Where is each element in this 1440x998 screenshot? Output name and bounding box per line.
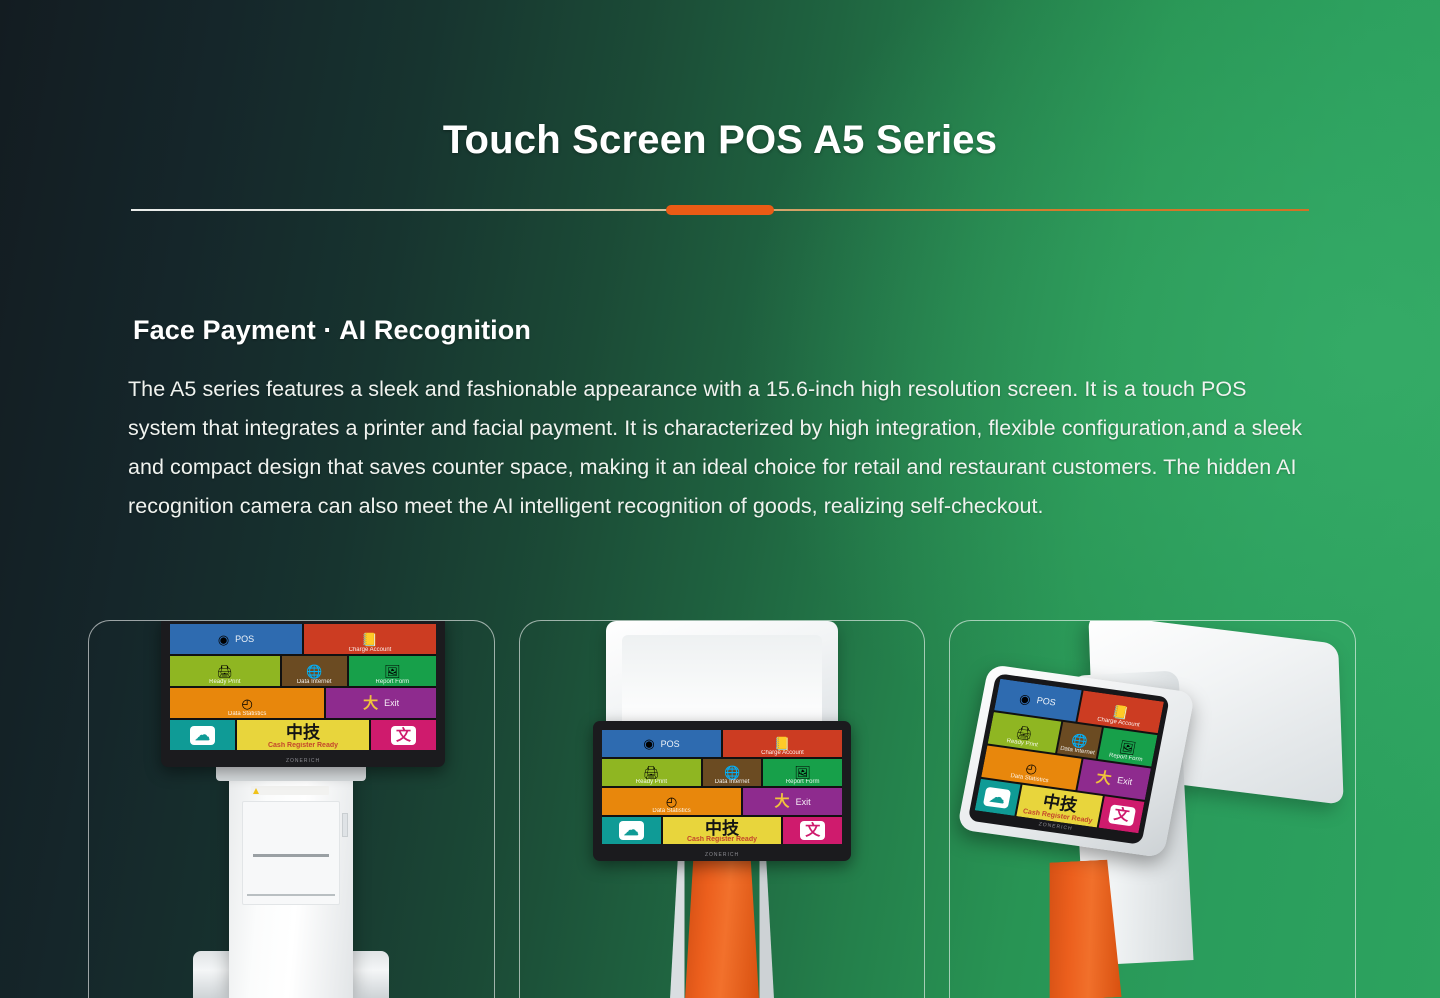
pos-icon: ◉	[218, 633, 229, 646]
printer-icon: 🖨	[1015, 725, 1034, 740]
pos-tile-printer-icon[interactable]: 🖨Ready Print	[170, 656, 280, 686]
pos-tile-exit-icon[interactable]: 大Exit	[743, 788, 842, 815]
title-divider	[131, 209, 1309, 211]
pos-tile-cloud-icon[interactable]: ☁	[602, 817, 661, 844]
pos-tile-brand-tile[interactable]: 中技Cash Register Ready	[663, 817, 782, 844]
section-body-text: The A5 series features a sleek and fashi…	[128, 370, 1313, 526]
pos-tile-wenzi-icon[interactable]: 文	[371, 720, 436, 750]
device3-front-housing: ◉POS📒Charge Account🖨Ready Print🌐Data Int…	[957, 664, 1195, 858]
product-card-dual-screen: ◉POS📒Charge Account🖨Ready Print🌐Data Int…	[519, 620, 926, 998]
pos-tile-grid: ◉POS📒Charge Account🖨Ready Print🌐Data Int…	[602, 730, 842, 844]
ledger-icon: 📒	[1112, 704, 1131, 719]
piechart-icon: ◴	[666, 795, 677, 808]
pos-tile-label: Report Form	[763, 779, 842, 785]
report-icon: 🖼	[794, 766, 811, 779]
printer-icon: 🖨	[643, 766, 660, 779]
device2-screen-shell: ◉POS📒Charge Account🖨Ready Print🌐Data Int…	[593, 721, 851, 861]
pos-tile-report-icon[interactable]: 🖼Report Form	[349, 656, 436, 686]
pos-tile-wenzi-icon[interactable]: 文	[1099, 796, 1145, 833]
pos-tile-exit-icon[interactable]: 大Exit	[326, 688, 436, 718]
pos-tile-report-icon[interactable]: 🖼Report Form	[763, 759, 842, 786]
pos-tile-wenzi-icon[interactable]: 文	[783, 817, 842, 844]
pos-tile-cloud-icon[interactable]: ☁	[170, 720, 235, 750]
warning-label-icon	[251, 786, 329, 795]
device1-printer-base	[229, 769, 353, 998]
brand-tile: 中技	[286, 724, 320, 741]
pos-icon: ◉	[643, 737, 654, 750]
pos-tile-network-icon[interactable]: 🌐Data Internet	[282, 656, 347, 686]
piechart-icon: ◴	[1025, 761, 1039, 775]
divider-pill	[666, 205, 774, 215]
pos-tile-label: Data Internet	[282, 679, 347, 685]
device2-bezel-brand: ZONERICH	[593, 852, 851, 858]
pos-tile-cloud-icon[interactable]: ☁	[975, 779, 1021, 816]
tear-bar	[247, 894, 335, 896]
pos-tile-label: Charge Account	[304, 647, 436, 653]
paper-slot	[253, 854, 329, 857]
exit-icon: 大	[775, 794, 790, 809]
device2-orange-stand	[685, 849, 759, 998]
wenzi-icon: 文	[1108, 804, 1136, 826]
section-subtitle: Face Payment · AI Recognition	[133, 315, 531, 346]
pos-tile-piechart-icon[interactable]: ◴Data Statistics	[602, 788, 741, 815]
device1-printer-door	[242, 801, 340, 905]
pos-tile-pos-icon[interactable]: ◉POS	[170, 624, 302, 654]
poster-page: Touch Screen POS A5 Series Face Payment …	[0, 0, 1440, 998]
product-image-cards: ◉POS📒Charge Account🖨Ready Print🌐Data Int…	[88, 620, 1356, 998]
wenzi-icon: 文	[391, 726, 416, 745]
pos-tile-label: Report Form	[349, 679, 436, 685]
product-card-angled-dual-screen: ◉POS📒Charge Account🖨Ready Print🌐Data Int…	[949, 620, 1356, 998]
device1-bezel-brand: ZONERICH	[161, 758, 445, 764]
device1-side-button	[342, 813, 348, 837]
piechart-icon: ◴	[241, 697, 252, 710]
product-card-single-screen: ◉POS📒Charge Account🖨Ready Print🌐Data Int…	[88, 620, 495, 998]
ledger-icon: 📒	[362, 633, 378, 646]
printer-icon: 🖨	[217, 665, 234, 678]
pos-tile-report-icon[interactable]: 🖼Report Form	[1098, 728, 1157, 767]
pos-tile-label: Charge Account	[723, 750, 842, 756]
pos-tile-ledger-icon[interactable]: 📒Charge Account	[304, 624, 436, 654]
cloud-icon: ☁	[619, 821, 644, 840]
pos-tile-label: Exit	[796, 797, 811, 807]
pos-tile-label: Exit	[1117, 775, 1134, 787]
pos-tile-network-icon[interactable]: 🌐Data Internet	[703, 759, 762, 786]
pos-tile-label: Data Statistics	[170, 711, 324, 717]
pos-tile-printer-icon[interactable]: 🖨Ready Print	[602, 759, 701, 786]
pos-tile-label: Ready Print	[602, 779, 701, 785]
cloud-icon: ☁	[190, 726, 215, 745]
pos-tile-grid: ◉POS📒Charge Account🖨Ready Print🌐Data Int…	[975, 679, 1164, 834]
pos-tile-ledger-icon[interactable]: 📒Charge Account	[723, 730, 842, 757]
brand-tile: 中技	[705, 820, 739, 837]
exit-icon: 大	[363, 696, 378, 711]
report-icon: 🖼	[384, 665, 401, 678]
device2-rear-display-panel	[622, 635, 822, 729]
pos-icon: ◉	[1019, 691, 1033, 705]
wenzi-icon: 文	[800, 821, 825, 840]
cloud-icon: ☁	[984, 786, 1012, 808]
pos-tile-label: POS	[661, 739, 680, 749]
pos-tile-label: Exit	[384, 698, 399, 708]
exit-icon: 大	[1095, 770, 1113, 787]
pos-tile-brand-tile[interactable]: 中技Cash Register Ready	[237, 720, 369, 750]
pos-tile-label: Cash Register Ready	[237, 742, 369, 749]
pos-tile-label: Data Statistics	[602, 808, 741, 814]
pos-tile-piechart-icon[interactable]: ◴Data Statistics	[170, 688, 324, 718]
pos-tile-pos-icon[interactable]: ◉POS	[602, 730, 721, 757]
device1-screen-shell: ◉POS📒Charge Account🖨Ready Print🌐Data Int…	[161, 620, 445, 767]
network-icon: 🌐	[306, 665, 322, 678]
report-icon: 🖼	[1119, 740, 1138, 755]
pos-tile-label: Cash Register Ready	[663, 836, 782, 843]
network-icon: 🌐	[724, 766, 740, 779]
pos-tile-label: POS	[235, 634, 254, 644]
pos-tile-label: POS	[1036, 695, 1057, 707]
device3-screen-shell: ◉POS📒Charge Account🖨Ready Print🌐Data Int…	[968, 673, 1170, 845]
pos-tile-grid: ◉POS📒Charge Account🖨Ready Print🌐Data Int…	[170, 624, 436, 750]
pos-tile-label: Data Internet	[703, 779, 762, 785]
network-icon: 🌐	[1071, 733, 1090, 748]
ledger-icon: 📒	[774, 737, 790, 750]
page-title: Touch Screen POS A5 Series	[0, 118, 1440, 163]
pos-tile-label: Ready Print	[170, 679, 280, 685]
pos-tile-network-icon[interactable]: 🌐Data Internet	[1057, 722, 1103, 759]
